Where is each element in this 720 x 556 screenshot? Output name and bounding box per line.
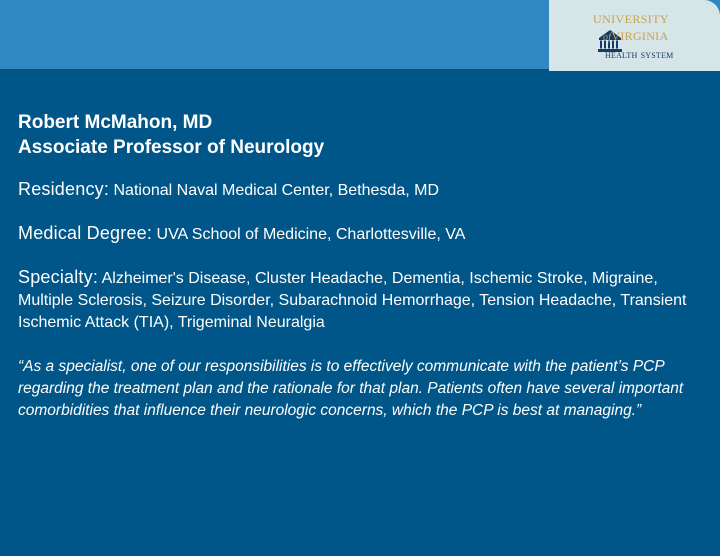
residency-value: National Naval Medical Center, Bethesda,… — [114, 182, 440, 199]
wordmark-health-system: Health System — [605, 47, 715, 61]
uva-health-system-logo: University ofVirginia Health System — [549, 0, 720, 71]
medical-degree-value: UVA School of Medicine, Charlottesville,… — [157, 226, 466, 243]
specialty-label: Specialty: — [18, 267, 98, 287]
specialty-value: Alzheimer's Disease, Cluster Headache, D… — [18, 270, 687, 331]
slide-content: Robert McMahon, MD Associate Professor o… — [18, 110, 696, 422]
specialty-row: Specialty: Alzheimer's Disease, Cluster … — [18, 266, 693, 334]
physician-quote: “As a specialist, one of our responsibil… — [18, 356, 693, 422]
wordmark-university: University — [593, 10, 715, 26]
uva-wordmark: University ofVirginia Health System — [593, 10, 715, 61]
header-band: University ofVirginia Health System — [0, 0, 720, 71]
physician-title: Associate Professor of Neurology — [18, 135, 696, 160]
wordmark-virginia-text: Virginia — [611, 25, 668, 44]
page-title: Robert McMahon, MD Associate Professor o… — [18, 110, 696, 160]
residency-label: Residency: — [18, 179, 109, 199]
medical-degree-label: Medical Degree: — [18, 223, 152, 243]
residency-row: Residency: National Naval Medical Center… — [18, 178, 696, 202]
physician-name: Robert McMahon, MD — [18, 110, 696, 135]
slide-root: University ofVirginia Health System Robe… — [0, 0, 720, 556]
wordmark-virginia: ofVirginia — [603, 26, 715, 46]
medical-degree-row: Medical Degree: UVA School of Medicine, … — [18, 222, 696, 246]
logo-panel: University ofVirginia Health System — [549, 0, 720, 71]
